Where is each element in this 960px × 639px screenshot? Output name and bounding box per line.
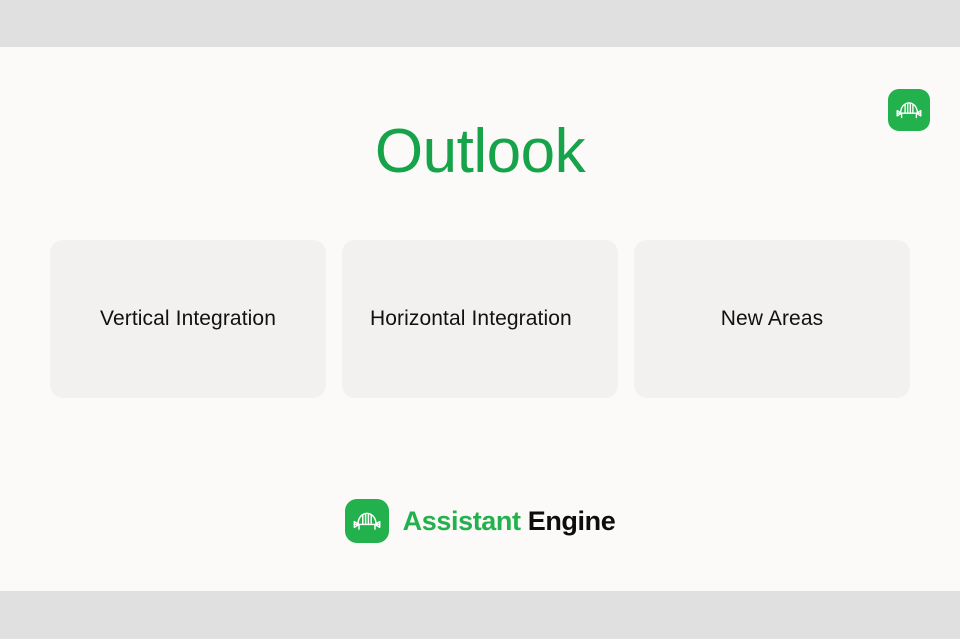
letterbox-top-bar — [0, 0, 960, 47]
bridge-icon — [353, 509, 381, 533]
card-label: New Areas — [721, 304, 823, 334]
presentation-viewport: Outlook Vertical Integration Horizontal … — [0, 0, 960, 639]
slide-title: Outlook — [0, 119, 960, 184]
card-vertical-integration[interactable]: Vertical Integration — [50, 240, 326, 398]
card-row: Vertical Integration Horizontal Integrat… — [50, 240, 910, 398]
wordmark-primary: Assistant — [403, 506, 521, 536]
bridge-icon — [896, 99, 922, 121]
card-horizontal-integration[interactable]: Horizontal Integration — [342, 240, 618, 398]
card-label: Horizontal Integration — [370, 304, 572, 334]
footer-brand-lockup: Assistant Engine — [0, 499, 960, 543]
footer-wordmark: Assistant Engine — [403, 506, 616, 537]
footer-brand-logo — [345, 499, 389, 543]
card-new-areas[interactable]: New Areas — [634, 240, 910, 398]
slide-canvas: Outlook Vertical Integration Horizontal … — [0, 47, 960, 591]
card-label: Vertical Integration — [100, 304, 276, 334]
letterbox-bottom-bar — [0, 591, 960, 639]
wordmark-secondary: Engine — [521, 506, 616, 536]
